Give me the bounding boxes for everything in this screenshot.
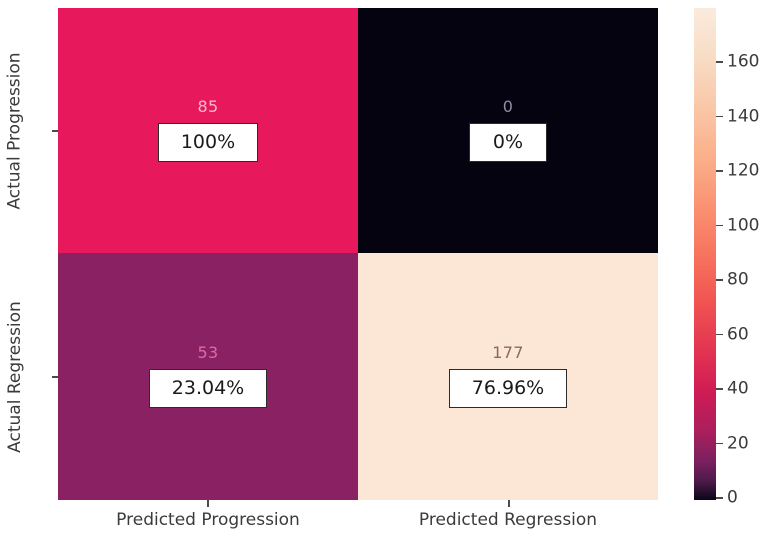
colorbar-tick-mark-160 — [716, 61, 723, 63]
heatmap-cell-true-progression[interactable]: 85 100% — [58, 8, 358, 253]
cell-percent-box: 0% — [469, 123, 547, 162]
colorbar-tick-mark-120 — [716, 170, 723, 172]
confusion-matrix-figure: Actual Progression Actual Regression 85 … — [0, 0, 783, 550]
heatmap-cell-progression-as-regression[interactable]: 0 0% — [358, 8, 658, 253]
y-axis-label-actual-progression: Actual Progression — [0, 8, 30, 253]
colorbar-tick-mark-80 — [716, 279, 723, 281]
colorbar — [694, 8, 716, 500]
colorbar-gradient — [694, 8, 716, 500]
cell-percent-box: 100% — [158, 123, 258, 162]
colorbar-tick-label-100: 100 — [727, 217, 759, 234]
colorbar-tick-mark-60 — [716, 334, 723, 336]
cell-percent-box: 76.96% — [449, 369, 567, 408]
x-axis-label-predicted-progression: Predicted Progression — [58, 510, 358, 530]
x-tick-mark-0 — [207, 500, 209, 507]
x-tick-mark-1 — [508, 500, 510, 507]
colorbar-tick-mark-100 — [716, 225, 723, 227]
colorbar-tick-label-40: 40 — [727, 381, 749, 398]
colorbar-tick-label-120: 120 — [727, 163, 759, 180]
heatmap-cell-true-regression[interactable]: 177 76.96% — [358, 253, 658, 500]
colorbar-tick-label-60: 60 — [727, 326, 749, 343]
colorbar-tick-label-160: 160 — [727, 54, 759, 71]
x-axis-label-predicted-regression: Predicted Regression — [358, 510, 658, 530]
colorbar-tick-mark-0 — [716, 497, 723, 499]
colorbar-tick-label-80: 80 — [727, 272, 749, 289]
colorbar-tick-mark-140 — [716, 116, 723, 118]
colorbar-tick-mark-40 — [716, 388, 723, 390]
cell-percent-box: 23.04% — [149, 369, 267, 408]
y-axis-label-text: Actual Progression — [5, 52, 25, 209]
colorbar-tick-label-20: 20 — [727, 435, 749, 452]
cell-count-value: 177 — [492, 345, 523, 361]
colorbar-tick-label-0: 0 — [727, 490, 738, 507]
heatmap-cell-regression-as-progression[interactable]: 53 23.04% — [58, 253, 358, 500]
heatmap-grid: 85 100% 0 0% 53 23.04% 177 76.96% — [58, 8, 658, 500]
y-axis-label-text: Actual Regression — [5, 301, 25, 453]
cell-count-value: 85 — [198, 99, 219, 115]
y-axis-label-actual-regression: Actual Regression — [0, 253, 30, 500]
cell-count-value: 0 — [503, 99, 513, 115]
colorbar-tick-mark-20 — [716, 443, 723, 445]
colorbar-tick-label-140: 140 — [727, 108, 759, 125]
cell-count-value: 53 — [198, 345, 219, 361]
